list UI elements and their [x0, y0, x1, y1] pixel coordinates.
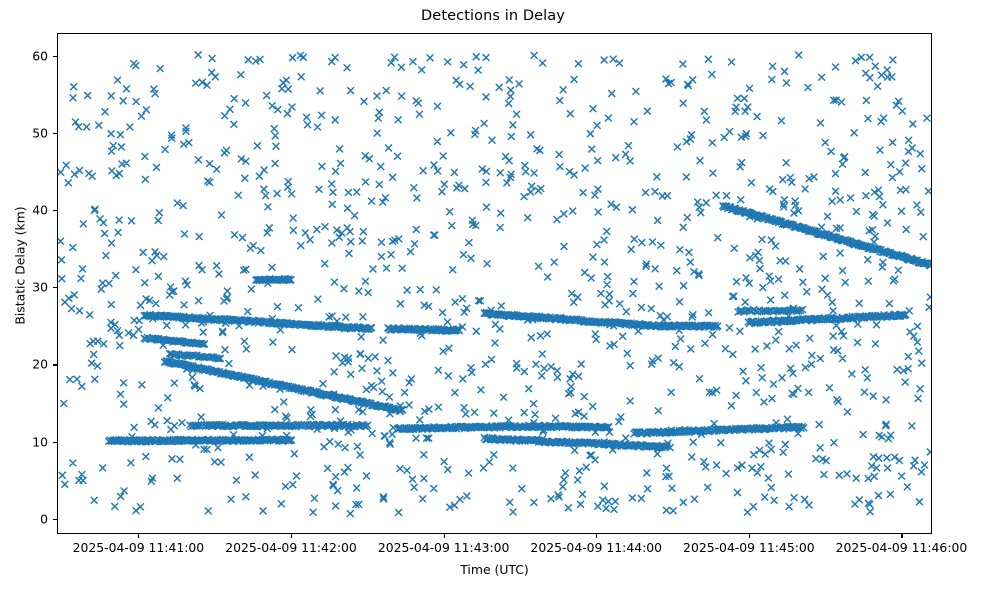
x-tick-mark — [138, 534, 139, 538]
y-axis-label: Bistatic Delay (km) — [13, 126, 28, 406]
y-tick-mark — [53, 287, 57, 288]
x-tick-label: 2025-04-09 11:46:00 — [836, 540, 968, 555]
x-tick-label: 2025-04-09 11:42:00 — [225, 540, 357, 555]
y-tick-mark — [53, 56, 57, 57]
y-tick-label: 10 — [32, 434, 48, 449]
x-tick-label: 2025-04-09 11:45:00 — [683, 540, 815, 555]
x-tick-mark — [901, 534, 902, 538]
x-tick-mark — [444, 534, 445, 538]
x-tick-mark — [749, 534, 750, 538]
y-tick-mark — [53, 364, 57, 365]
plot-area — [57, 33, 932, 534]
page-title: Detections in Delay — [0, 8, 986, 24]
scatter-layer — [58, 34, 931, 533]
y-tick-label: 60 — [32, 49, 48, 64]
x-tick-label: 2025-04-09 11:41:00 — [73, 540, 205, 555]
x-tick-mark — [291, 534, 292, 538]
y-tick-mark — [53, 210, 57, 211]
y-tick-label: 30 — [32, 280, 48, 295]
y-tick-label: 50 — [32, 126, 48, 141]
x-tick-label: 2025-04-09 11:44:00 — [530, 540, 662, 555]
y-tick-mark — [53, 519, 57, 520]
matplotlib-figure: Detections in Delay Time (UTC) Bistatic … — [0, 0, 986, 590]
y-tick-mark — [53, 442, 57, 443]
x-tick-label: 2025-04-09 11:43:00 — [378, 540, 510, 555]
y-tick-mark — [53, 133, 57, 134]
x-axis-label: Time (UTC) — [57, 562, 932, 577]
x-tick-mark — [596, 534, 597, 538]
y-tick-label: 40 — [32, 203, 48, 218]
y-tick-label: 20 — [32, 357, 48, 372]
y-tick-label: 0 — [40, 511, 48, 526]
data-points — [58, 51, 931, 517]
